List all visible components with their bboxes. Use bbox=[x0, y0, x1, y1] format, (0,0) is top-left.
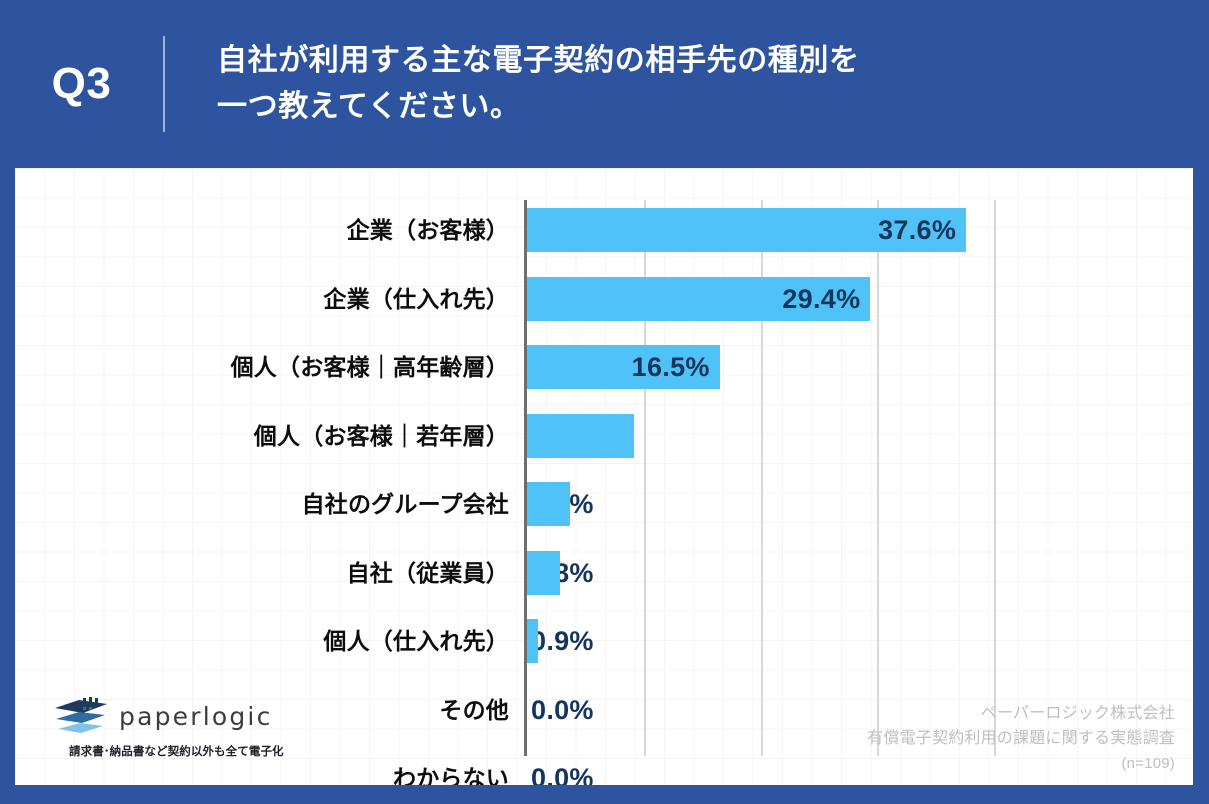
logo-wordmark: paperlogic bbox=[119, 704, 273, 729]
bar-row: 企業（お客様）37.6% bbox=[15, 208, 1193, 252]
bar-category-label: わからない bbox=[15, 756, 509, 785]
bar-container[interactable]: 16.5% bbox=[527, 345, 720, 389]
logo-row: paperlogic bbox=[53, 696, 313, 736]
source-company: ペーパーロジック株式会社 bbox=[867, 702, 1175, 727]
survey-source-note: ペーパーロジック株式会社 有償電子契約利用の課題に関する実態調査 (n=109) bbox=[867, 702, 1175, 775]
bar-category-label: 自社のグループ会社 bbox=[15, 482, 509, 526]
bar-row: 個人（お客様｜高年齢層）16.5% bbox=[15, 345, 1193, 389]
bar-container[interactable] bbox=[527, 688, 528, 732]
question-number: Q3 bbox=[0, 62, 163, 106]
bar-category-label: 個人（お客様｜若年層） bbox=[15, 414, 509, 458]
bar-category-label: 自社（従業員） bbox=[15, 551, 509, 595]
source-survey-name: 有償電子契約利用の課題に関する実態調査 bbox=[867, 727, 1175, 752]
bar-value-label: 37.6% bbox=[878, 208, 956, 252]
bar[interactable] bbox=[527, 619, 538, 663]
question-header: Q3 自社が利用する主な電子契約の相手先の種別を 一つ教えてください。 bbox=[0, 0, 1209, 168]
bar-container[interactable] bbox=[527, 756, 528, 785]
bar-category-label: 個人（仕入れ先） bbox=[15, 619, 509, 663]
bar-container[interactable] bbox=[527, 551, 560, 595]
bar[interactable] bbox=[527, 551, 560, 595]
bar-category-label: 企業（仕入れ先） bbox=[15, 277, 509, 321]
question-title-line-1: 自社が利用する主な電子契約の相手先の種別を bbox=[217, 38, 860, 84]
question-title: 自社が利用する主な電子契約の相手先の種別を 一つ教えてください。 bbox=[165, 38, 860, 129]
bar-value-label: 0.9% bbox=[531, 619, 594, 663]
bar[interactable] bbox=[527, 482, 570, 526]
bar-row: 自社のグループ会社3.7% bbox=[15, 482, 1193, 526]
bar-container[interactable] bbox=[527, 482, 570, 526]
bar-container[interactable] bbox=[527, 619, 538, 663]
bar[interactable] bbox=[527, 414, 634, 458]
bar-container[interactable] bbox=[527, 414, 634, 458]
bar-value-label: 29.4% bbox=[782, 277, 860, 321]
question-title-line-2: 一つ教えてください。 bbox=[217, 84, 860, 130]
bar-row: 個人（仕入れ先）0.9% bbox=[15, 619, 1193, 663]
paperlogic-logo: paperlogic 請求書･納品書など契約以外も全て電子化 bbox=[53, 696, 313, 759]
bar-container[interactable]: 29.4% bbox=[527, 277, 870, 321]
bar-value-label: 0.0% bbox=[531, 688, 594, 732]
bar-row: 企業（仕入れ先）29.4% bbox=[15, 277, 1193, 321]
bar-row: 個人（お客様｜若年層）9.2% bbox=[15, 414, 1193, 458]
bar-value-label: 16.5% bbox=[632, 345, 710, 389]
bar-row: 自社（従業員）2.8% bbox=[15, 551, 1193, 595]
paperlogic-stack-icon bbox=[53, 696, 109, 736]
bar-category-label: 個人（お客様｜高年齢層） bbox=[15, 345, 509, 389]
chart-card: 企業（お客様）37.6%企業（仕入れ先）29.4%個人（お客様｜高年齢層）16.… bbox=[15, 168, 1193, 785]
horizontal-bar-chart: 企業（お客様）37.6%企業（仕入れ先）29.4%個人（お客様｜高年齢層）16.… bbox=[15, 168, 1193, 785]
logo-tagline: 請求書･納品書など契約以外も全て電子化 bbox=[69, 743, 313, 759]
bar-value-label: 0.0% bbox=[531, 756, 594, 785]
bar-category-label: 企業（お客様） bbox=[15, 208, 509, 252]
bar-container[interactable]: 37.6% bbox=[527, 208, 966, 252]
source-sample-size: (n=109) bbox=[867, 752, 1175, 775]
